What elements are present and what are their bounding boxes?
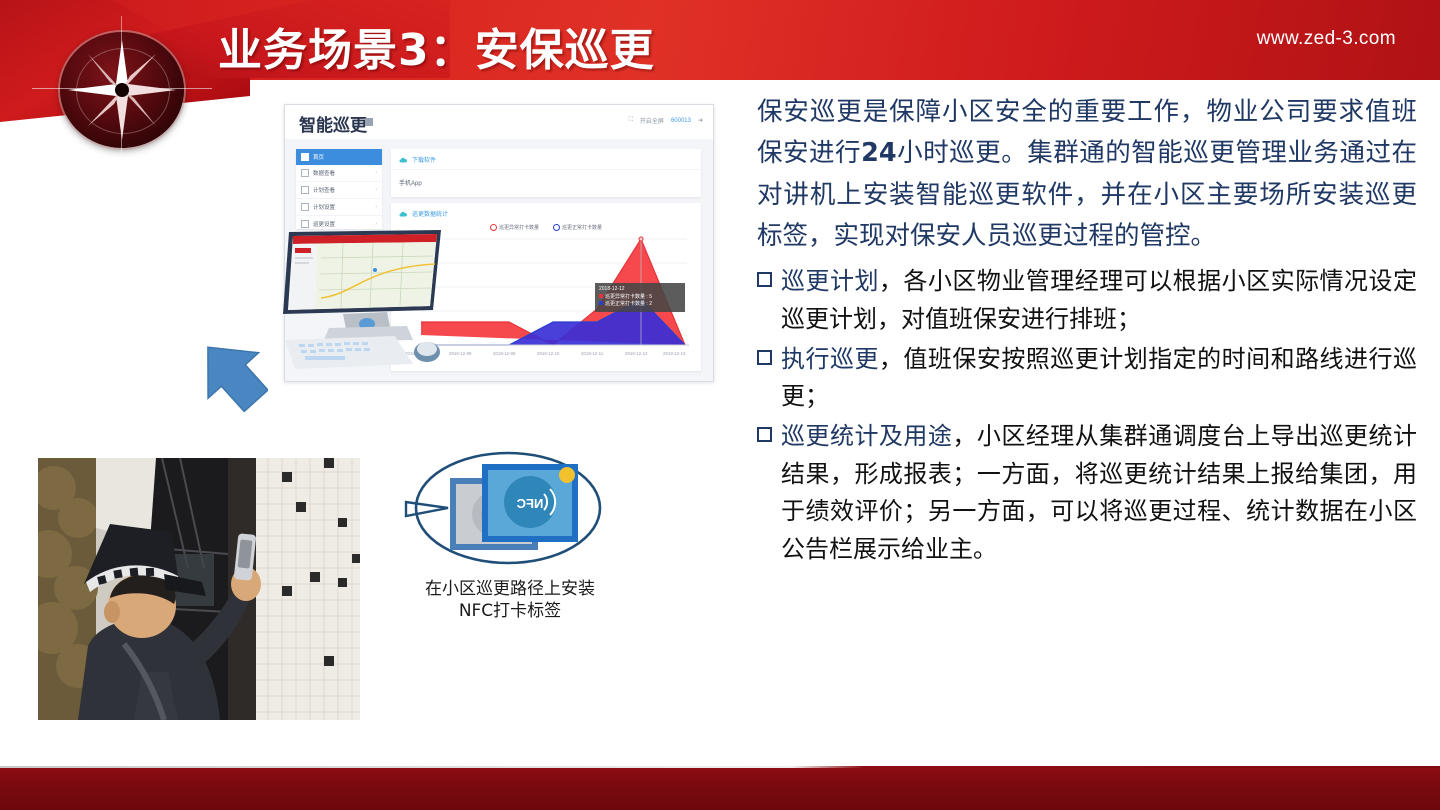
account-label: 600013 — [671, 118, 691, 124]
nfc-label: NFC — [516, 496, 543, 511]
site-url: www.zed-3.com — [1257, 28, 1396, 50]
download-card-header: 下载软件 — [391, 149, 701, 164]
tooltip-row-normal: 巡更正常打卡数量 : 2 — [599, 301, 681, 309]
chart-x-ticks: 2018-12-07 2018-12-08 2018-12-09 2018-12… — [405, 351, 686, 356]
callout-tail — [406, 502, 448, 516]
intro-paragraph: 保安巡更是保障小区安全的重要工作，物业公司要求值班保安进行24小时巡更。集群通的… — [757, 92, 1417, 257]
tooltip-marker-red — [599, 294, 603, 298]
sidebar-item-label: 计划查看 — [313, 186, 335, 194]
home-icon — [301, 153, 309, 161]
sidebar-item-data-view[interactable]: 数据查看 › — [296, 165, 382, 182]
monitor-map-marker — [373, 268, 377, 272]
sidebar-item-label: 数据查看 — [313, 169, 335, 177]
chart-card-header: 巡更数据统计 — [391, 203, 701, 218]
exit-icon[interactable]: ➜ — [698, 117, 703, 124]
content-column: 保安巡更是保障小区安全的重要工作，物业公司要求值班保安进行24小时巡更。集群通的… — [757, 92, 1417, 571]
list-item: 巡更统计及用途，小区经理从集群通调度台上导出巡更统计结果，形成报表；一方面，将巡… — [757, 418, 1417, 569]
tooltip-row-abnormal: 巡更异常打卡数量 : 5 — [599, 294, 681, 302]
svg-text:2018-12-09: 2018-12-09 — [493, 351, 516, 356]
compass-star-icon — [52, 26, 192, 154]
bullet-list: 巡更计划，各小区物业管理经理可以根据小区实际情况设定巡更计划，对值班保安进行排班… — [757, 263, 1417, 568]
square-bullet-icon — [757, 427, 772, 442]
square-bullet-icon — [757, 350, 772, 365]
download-card-item[interactable]: 手机App — [391, 169, 701, 195]
sidebar-item-label: 首页 — [313, 153, 324, 161]
cloud-download-icon — [399, 157, 408, 163]
svg-text:2018-12-13: 2018-12-13 — [663, 351, 686, 356]
sidebar-item-plan-settings[interactable]: 计划设置 › — [296, 199, 382, 216]
list-item: 巡更计划，各小区物业管理经理可以根据小区实际情况设定巡更计划，对值班保安进行排班… — [757, 263, 1417, 338]
nfc-callout-bubble: NFC — [404, 450, 604, 568]
bullet-head: 巡更统计及用途 — [781, 422, 952, 450]
svg-text:2018-12-08: 2018-12-08 — [449, 351, 472, 356]
dashboard-topbar-right: ⛶ 开启全屏 600013 ➜ — [629, 116, 703, 125]
compass-logo-icon — [52, 26, 192, 154]
svg-text:2018-12-12: 2018-12-12 — [625, 351, 648, 356]
list-icon — [301, 220, 309, 228]
blue-arrow-icon — [196, 336, 268, 412]
guard-ear — [104, 601, 120, 623]
square-bullet-icon — [757, 272, 772, 287]
monitor-app-button — [295, 248, 311, 253]
download-card-title: 下载软件 — [412, 155, 436, 164]
dashboard-sidebar: 首页 数据查看 › 计划查看 › 计划设置 › 巡更设置 › — [296, 149, 382, 229]
guard-photo-svg — [38, 458, 360, 720]
nfc-caption: 在小区巡更路径上安装NFC打卡标签 — [420, 578, 600, 623]
chart-point-hover — [639, 237, 643, 241]
fullscreen-icon[interactable]: ⛶ — [629, 117, 633, 124]
bullet-text: 执行巡更，值班保安按照巡更计划指定的时间和路线进行巡更； — [781, 341, 1417, 416]
bullet-head: 巡更计划 — [781, 267, 879, 295]
sidebar-item-plan-view[interactable]: 计划查看 › — [296, 182, 382, 199]
dashboard-topbar: 智能巡更 ⛶ 开启全屏 600013 ➜ — [285, 105, 713, 140]
fullscreen-label[interactable]: 开启全屏 — [640, 116, 664, 125]
monitor-app-sidebar — [289, 244, 317, 311]
chevron-right-icon: › — [375, 187, 377, 193]
slide-header: 业务场景3：安保巡更 www.zed-3.com — [0, 0, 1440, 96]
bullet-text: 巡更计划，各小区物业管理经理可以根据小区实际情况设定巡更计划，对值班保安进行排班… — [781, 263, 1417, 338]
chevron-right-icon: › — [375, 221, 377, 227]
list-icon — [301, 203, 309, 211]
bullet-head: 执行巡更 — [781, 345, 879, 373]
sidebar-item-label: 计划设置 — [313, 203, 335, 211]
footer-bar — [0, 768, 1440, 810]
sidebar-item-label: 巡更设置 — [313, 220, 335, 228]
chevron-right-icon: › — [375, 204, 377, 210]
tooltip-marker-blue — [599, 301, 603, 305]
dashboard-logo-badge — [365, 118, 373, 126]
dashboard-logo: 智能巡更 — [299, 111, 367, 136]
svg-text:2018-12-11: 2018-12-11 — [581, 351, 604, 356]
cloud-chart-icon — [399, 211, 408, 217]
desktop-computer-illustration — [255, 228, 445, 378]
chart-card-title: 巡更数据统计 — [412, 209, 448, 218]
security-guard-photo — [38, 458, 360, 720]
intro-highlight: 24 — [861, 138, 897, 168]
chevron-right-icon: › — [375, 170, 377, 176]
list-icon — [301, 186, 309, 194]
tooltip-date: 2018-12-12 — [599, 286, 681, 294]
bullet-text: 巡更统计及用途，小区经理从集群通调度台上导出巡更统计结果，形成报表；一方面，将巡… — [781, 418, 1417, 569]
svg-text:2018-12-10: 2018-12-10 — [537, 351, 560, 356]
nfc-badge-icon — [559, 467, 575, 483]
chart-tooltip: 2018-12-12 巡更异常打卡数量 : 5 巡更正常打卡数量 : 2 — [595, 283, 685, 312]
list-icon — [301, 169, 309, 177]
download-card: 下载软件 手机App — [391, 149, 701, 197]
tiled-wall — [256, 458, 360, 720]
list-item: 执行巡更，值班保安按照巡更计划指定的时间和路线进行巡更； — [757, 341, 1417, 416]
sidebar-item-home[interactable]: 首页 — [296, 149, 382, 165]
page-title: 业务场景3：安保巡更 — [218, 14, 655, 78]
